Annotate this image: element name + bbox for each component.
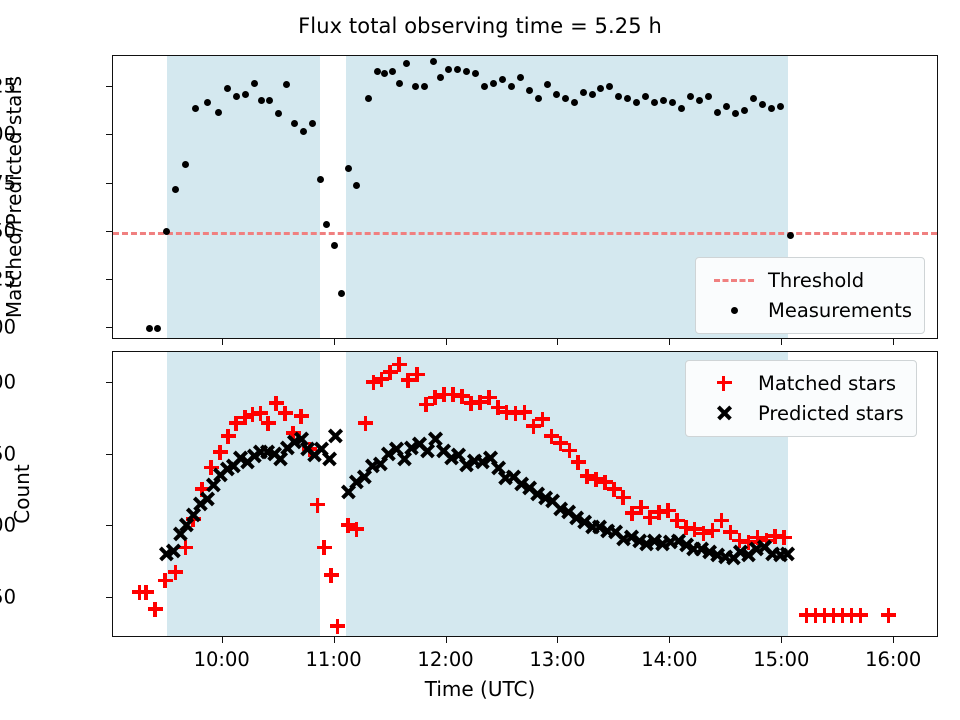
figure-title: Flux total observing time = 5.25 h [0, 14, 960, 38]
y-tick-mark [106, 525, 112, 526]
matched-star-point [616, 490, 631, 505]
matched-star-point [330, 619, 345, 634]
measurement-point [300, 128, 307, 135]
x-axis-label: Time (UTC) [0, 677, 960, 701]
x-tick-mark [893, 637, 894, 643]
matched-star-point [571, 455, 586, 470]
measurement-point [338, 290, 345, 297]
measurement-point [396, 80, 403, 87]
x-tick-mark [222, 339, 223, 345]
predicted-star-point [200, 492, 215, 507]
x-tick-label: 10:00 [194, 648, 250, 671]
legend-label-predicted-stars: Predicted stars [752, 402, 904, 425]
shaded-time-span [167, 352, 320, 636]
matched-star-point [881, 608, 896, 623]
x-tick-label: 12:00 [417, 648, 473, 671]
measurement-point [714, 109, 721, 116]
measurement-point [651, 99, 658, 106]
x-tick-mark [446, 637, 447, 643]
matched-star-point [168, 565, 183, 580]
measurement-point [365, 95, 372, 102]
legend-label-threshold: Threshold [762, 269, 864, 292]
x-tick-mark [557, 339, 558, 345]
measurement-point [309, 120, 316, 127]
measurement-point [323, 221, 330, 228]
measurement-point [182, 161, 189, 168]
y-tick-mark [106, 454, 112, 455]
predicted-star-point [780, 546, 795, 561]
matched-star-point [535, 412, 550, 427]
measurement-point [723, 103, 730, 110]
measurement-point [777, 103, 784, 110]
matched-star-point [777, 530, 792, 545]
measurement-point [317, 176, 324, 183]
measurement-point [589, 91, 596, 98]
measurement-point [430, 58, 437, 65]
x-tick-label: 15:00 [753, 648, 809, 671]
measurement-point [172, 186, 179, 193]
matched-star-point [349, 522, 364, 537]
x-tick-label: 16:00 [865, 648, 921, 671]
y-tick-label: 200 [0, 371, 16, 394]
predicted-star-point [328, 429, 343, 444]
bottom-panel-ylabel: Count [10, 464, 34, 523]
x-tick-mark [222, 637, 223, 643]
matched-star-point [517, 405, 532, 420]
measurement-point [499, 76, 506, 83]
measurement-point [562, 95, 569, 102]
measurement-point [251, 80, 258, 87]
measurement-point [678, 105, 685, 112]
matched-star-point [324, 568, 339, 583]
matched-star-point [213, 445, 228, 460]
y-tick-label: 150 [0, 442, 16, 465]
dashed-line-icon [706, 279, 762, 282]
measurement-point [535, 95, 542, 102]
measurement-point [215, 109, 222, 116]
plus-marker-icon [696, 376, 752, 391]
matched-star-point [278, 406, 293, 421]
x-tick-mark [669, 637, 670, 643]
y-tick-mark [106, 183, 112, 184]
measurement-point [490, 80, 497, 87]
y-tick-mark [106, 597, 112, 598]
measurement-point [403, 60, 410, 67]
x-tick-mark [893, 339, 894, 345]
measurement-point [204, 99, 211, 106]
dot-marker-icon [706, 307, 762, 314]
x-tick-mark [669, 339, 670, 345]
x-tick-mark [781, 637, 782, 643]
predicted-star-point [166, 543, 181, 558]
matched-star-point [310, 498, 325, 513]
measurement-point [345, 165, 352, 172]
x-tick-label: 13:00 [529, 648, 585, 671]
measurement-point [154, 325, 161, 332]
y-tick-mark [106, 279, 112, 280]
measurement-point [553, 91, 560, 98]
y-tick-mark [106, 327, 112, 328]
matched-star-point [410, 367, 425, 382]
y-tick-mark [106, 382, 112, 383]
measurement-point [242, 91, 249, 98]
matched-star-point [853, 608, 868, 623]
measurement-point [517, 74, 524, 81]
y-tick-label: 50 [0, 585, 16, 608]
x-tick-label: 14:00 [641, 648, 697, 671]
predicted-star-point [322, 452, 337, 467]
measurement-point [374, 68, 381, 75]
y-tick-mark [106, 86, 112, 87]
y-tick-mark [106, 134, 112, 135]
y-tick-label: 0.00 [0, 316, 16, 339]
figure-root: Flux total observing time = 5.25 h 0.000… [0, 0, 960, 720]
measurement-point [233, 93, 240, 100]
matched-star-point [317, 540, 332, 555]
matched-star-point [358, 416, 373, 431]
measurement-point [696, 97, 703, 104]
legend-item-measurements[interactable]: Measurements [706, 295, 912, 325]
matched-star-point [139, 585, 154, 600]
x-tick-mark [557, 637, 558, 643]
top-panel-legend[interactable]: Threshold Measurements [695, 257, 925, 334]
measurement-point [741, 107, 748, 114]
x-tick-mark [334, 637, 335, 643]
measurement-point [192, 105, 199, 112]
measurement-point [669, 99, 676, 106]
measurement-point [146, 325, 153, 332]
cross-marker-icon [696, 406, 752, 421]
threshold-line [113, 232, 937, 235]
measurement-point [580, 89, 587, 96]
matched-star-point [221, 429, 236, 444]
measurement-point [472, 70, 479, 77]
top-panel-ylabel: Matched/Predicted stars [2, 76, 26, 318]
x-tick-label: 11:00 [306, 648, 362, 671]
matched-star-point [148, 602, 163, 617]
legend-item-threshold[interactable]: Threshold [706, 265, 912, 295]
measurement-point [571, 99, 578, 106]
legend-item-matched-stars[interactable]: Matched stars [696, 368, 904, 398]
matched-star-point [261, 416, 276, 431]
matched-star-point [392, 357, 407, 372]
measurement-point [787, 232, 794, 239]
measurement-point [224, 85, 231, 92]
measurement-point [291, 120, 298, 127]
legend-label-measurements: Measurements [762, 299, 912, 322]
matched-star-point [294, 409, 309, 424]
measurement-point [768, 105, 775, 112]
legend-item-predicted-stars[interactable]: Predicted stars [696, 398, 904, 428]
x-tick-mark [334, 339, 335, 345]
x-tick-mark [781, 339, 782, 345]
shaded-time-span [167, 56, 320, 338]
measurement-point [331, 242, 338, 249]
legend-label-matched-stars: Matched stars [752, 372, 896, 395]
bottom-panel-legend[interactable]: Matched stars Predicted stars [685, 360, 917, 437]
measurement-point [705, 93, 712, 100]
measurement-point [750, 95, 757, 102]
measurement-point [759, 101, 766, 108]
x-tick-mark [446, 339, 447, 345]
y-tick-mark [106, 231, 112, 232]
